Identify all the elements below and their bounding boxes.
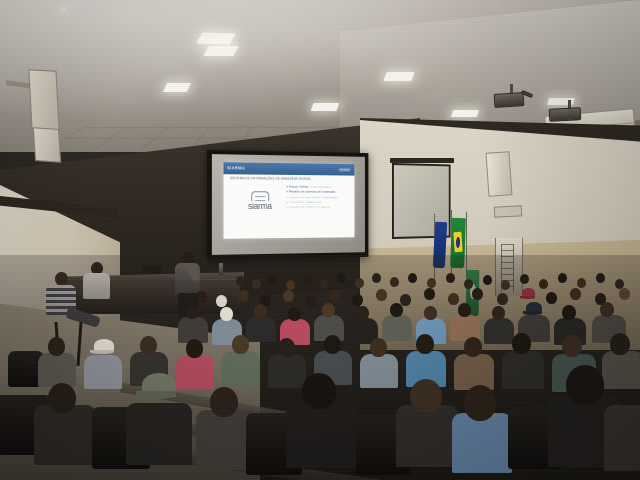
audience-member-body xyxy=(382,315,412,341)
audience-member-body xyxy=(604,405,640,471)
audience-member xyxy=(306,295,317,307)
wall-control-panel xyxy=(494,205,523,217)
audience-member xyxy=(216,295,227,307)
audience-member xyxy=(283,290,294,302)
audience-member xyxy=(337,273,346,283)
audience-member-cap xyxy=(142,373,176,397)
audience-member xyxy=(48,383,76,413)
audience-member xyxy=(600,302,614,317)
audience xyxy=(0,255,640,480)
slide-bullet: ▸ Cadastro de usuários do sistema xyxy=(287,206,351,209)
audience-member xyxy=(512,333,531,354)
audience-member xyxy=(546,292,557,304)
audience-member xyxy=(458,303,471,317)
slide-bullet: ▸ Relatório de cobertura de localização xyxy=(287,191,351,194)
audience-member-body xyxy=(84,355,122,389)
audience-member xyxy=(390,277,399,287)
audience-member-body xyxy=(452,413,512,473)
lecture-hall-photo: SIARMA FATEC SISTEMA DE INFORMAÇÕES DE A… xyxy=(0,0,640,480)
audience-member xyxy=(324,335,341,354)
audience-member xyxy=(566,365,604,405)
wall-speaker-right xyxy=(485,151,512,197)
slide-bullet: ▸ Unidades armazenadoras cadastradas xyxy=(287,196,351,199)
audience-member xyxy=(376,289,387,301)
audience-member-body xyxy=(222,351,260,385)
slide-bullet: ▸ Preços / Tarifas de armazenagem xyxy=(287,186,351,190)
audience-member xyxy=(464,385,496,421)
bullet-text: Relatório de cobertura de localização xyxy=(289,191,335,194)
audience-member xyxy=(570,288,581,300)
audience-member xyxy=(520,274,529,284)
siarma-logo-word: siarma xyxy=(248,202,272,211)
screen-surface: SIARMA FATEC SISTEMA DE INFORMAÇÕES DE A… xyxy=(212,154,365,255)
ceiling-projector-icon xyxy=(494,92,525,108)
audience-member xyxy=(352,294,363,306)
ceiling-light xyxy=(203,46,238,56)
audience-member xyxy=(286,280,295,290)
audience-member xyxy=(236,276,245,286)
slide-brand-logo: FATEC xyxy=(338,168,351,172)
audience-member-body xyxy=(176,355,214,389)
audience-member-body xyxy=(502,351,544,389)
audience-member xyxy=(472,288,483,300)
audience-member xyxy=(539,279,548,289)
audience-member-body xyxy=(396,405,458,467)
slide-header: SIARMA FATEC xyxy=(223,162,355,175)
audience-member xyxy=(562,305,576,320)
audience-member xyxy=(558,273,567,283)
audience-member xyxy=(278,338,295,357)
audience-member-cap xyxy=(94,339,114,352)
bullet-dot-icon: ▸ xyxy=(287,196,288,199)
audience-member xyxy=(48,337,65,356)
audience-member xyxy=(501,280,510,290)
bullet-text: Unidades armazenadoras xyxy=(289,196,321,199)
audience-member-body xyxy=(454,354,494,390)
audience-member xyxy=(268,275,277,285)
audience-member-body xyxy=(602,351,640,389)
wall-speaker-left xyxy=(28,69,59,130)
audience-member xyxy=(302,373,336,409)
audience-member xyxy=(619,288,630,300)
audience-member-cap xyxy=(526,302,542,313)
audience-member xyxy=(400,294,411,306)
slide-bullet-list: ▸ Preços / Tarifas de armazenagem ▸ Rela… xyxy=(287,186,351,211)
audience-member xyxy=(492,306,505,320)
audience-member xyxy=(372,273,381,283)
bullet-dot-icon: ▸ xyxy=(287,206,288,209)
bullet-subtext: estática total xyxy=(305,201,321,204)
audience-member-body xyxy=(38,353,76,387)
audience-member xyxy=(329,289,340,301)
ceiling-light xyxy=(60,8,66,11)
wall-speaker-left-lower xyxy=(33,127,62,163)
audience-member xyxy=(320,279,329,289)
audience-member xyxy=(424,306,437,320)
audience-member xyxy=(232,335,249,354)
audience-member xyxy=(483,275,492,285)
audience-member xyxy=(424,288,435,300)
ceiling-light xyxy=(163,83,191,92)
main-projection-screen: SIARMA FATEC SISTEMA DE INFORMAÇÕES DE A… xyxy=(207,150,368,260)
slide-subtitle: SISTEMA DE INFORMAÇÕES DE ARMAZÉNS RURAI… xyxy=(230,176,311,181)
slide-title: SIARMA xyxy=(227,166,245,171)
audience-member xyxy=(220,307,233,321)
audience-member xyxy=(446,273,455,283)
audience-member xyxy=(356,306,369,320)
presentation-slide: SIARMA FATEC SISTEMA DE INFORMAÇÕES DE A… xyxy=(223,162,355,238)
audience-member xyxy=(238,290,249,302)
audience-member xyxy=(596,273,605,283)
audience-member xyxy=(562,335,582,357)
audience-member xyxy=(303,274,312,284)
bullet-text: Capacidade xyxy=(289,201,304,204)
warehouse-icon xyxy=(251,191,269,201)
bullet-text: Preços / Tarifas xyxy=(289,186,308,189)
audience-member xyxy=(196,291,207,303)
audience-member-body xyxy=(360,354,398,388)
bullet-dot-icon: ▸ xyxy=(287,201,288,204)
bullet-subtext: cadastradas xyxy=(323,196,338,199)
audience-member xyxy=(497,293,508,305)
audience-member xyxy=(410,379,442,413)
ceiling-light xyxy=(311,103,340,111)
bullet-text: Cadastro de usuários xyxy=(289,206,316,209)
audience-member-body xyxy=(268,354,306,388)
audience-member xyxy=(186,305,199,319)
audience-member xyxy=(322,303,335,317)
bullet-subtext: do sistema xyxy=(317,206,330,209)
audience-member xyxy=(252,279,261,289)
audience-member-body xyxy=(34,405,96,465)
bullet-subtext: de armazenagem xyxy=(310,186,332,189)
slide-bullet: ▸ Capacidade estática total xyxy=(287,201,351,204)
audience-member xyxy=(464,279,473,289)
audience-member-cap xyxy=(522,288,535,297)
ceiling-light xyxy=(196,32,236,44)
bullet-dot-icon: ▸ xyxy=(287,186,288,189)
audience-member xyxy=(448,293,459,305)
audience-member xyxy=(408,273,417,283)
audience-member xyxy=(370,338,387,357)
siarma-logo: siarma xyxy=(231,191,287,211)
audience-member xyxy=(210,387,238,417)
audience-member-body xyxy=(126,403,192,465)
audience-member xyxy=(610,333,630,355)
audience-member xyxy=(186,339,203,358)
audience-member-body xyxy=(246,316,276,342)
audience-member xyxy=(254,304,267,318)
ceiling-projector-icon xyxy=(549,107,582,122)
audience-member-body xyxy=(484,318,514,344)
audience-member xyxy=(577,278,586,288)
audience-member xyxy=(390,303,403,317)
audience-member xyxy=(416,334,434,354)
audience-member-body xyxy=(286,400,356,468)
audience-member xyxy=(355,278,364,288)
audience-member xyxy=(464,337,482,357)
bullet-dot-icon: ▸ xyxy=(287,191,288,194)
ceiling-light xyxy=(383,72,415,81)
audience-member xyxy=(288,307,301,321)
audience-member xyxy=(427,278,436,288)
audience-member xyxy=(140,336,157,355)
ceiling-light xyxy=(451,110,479,117)
